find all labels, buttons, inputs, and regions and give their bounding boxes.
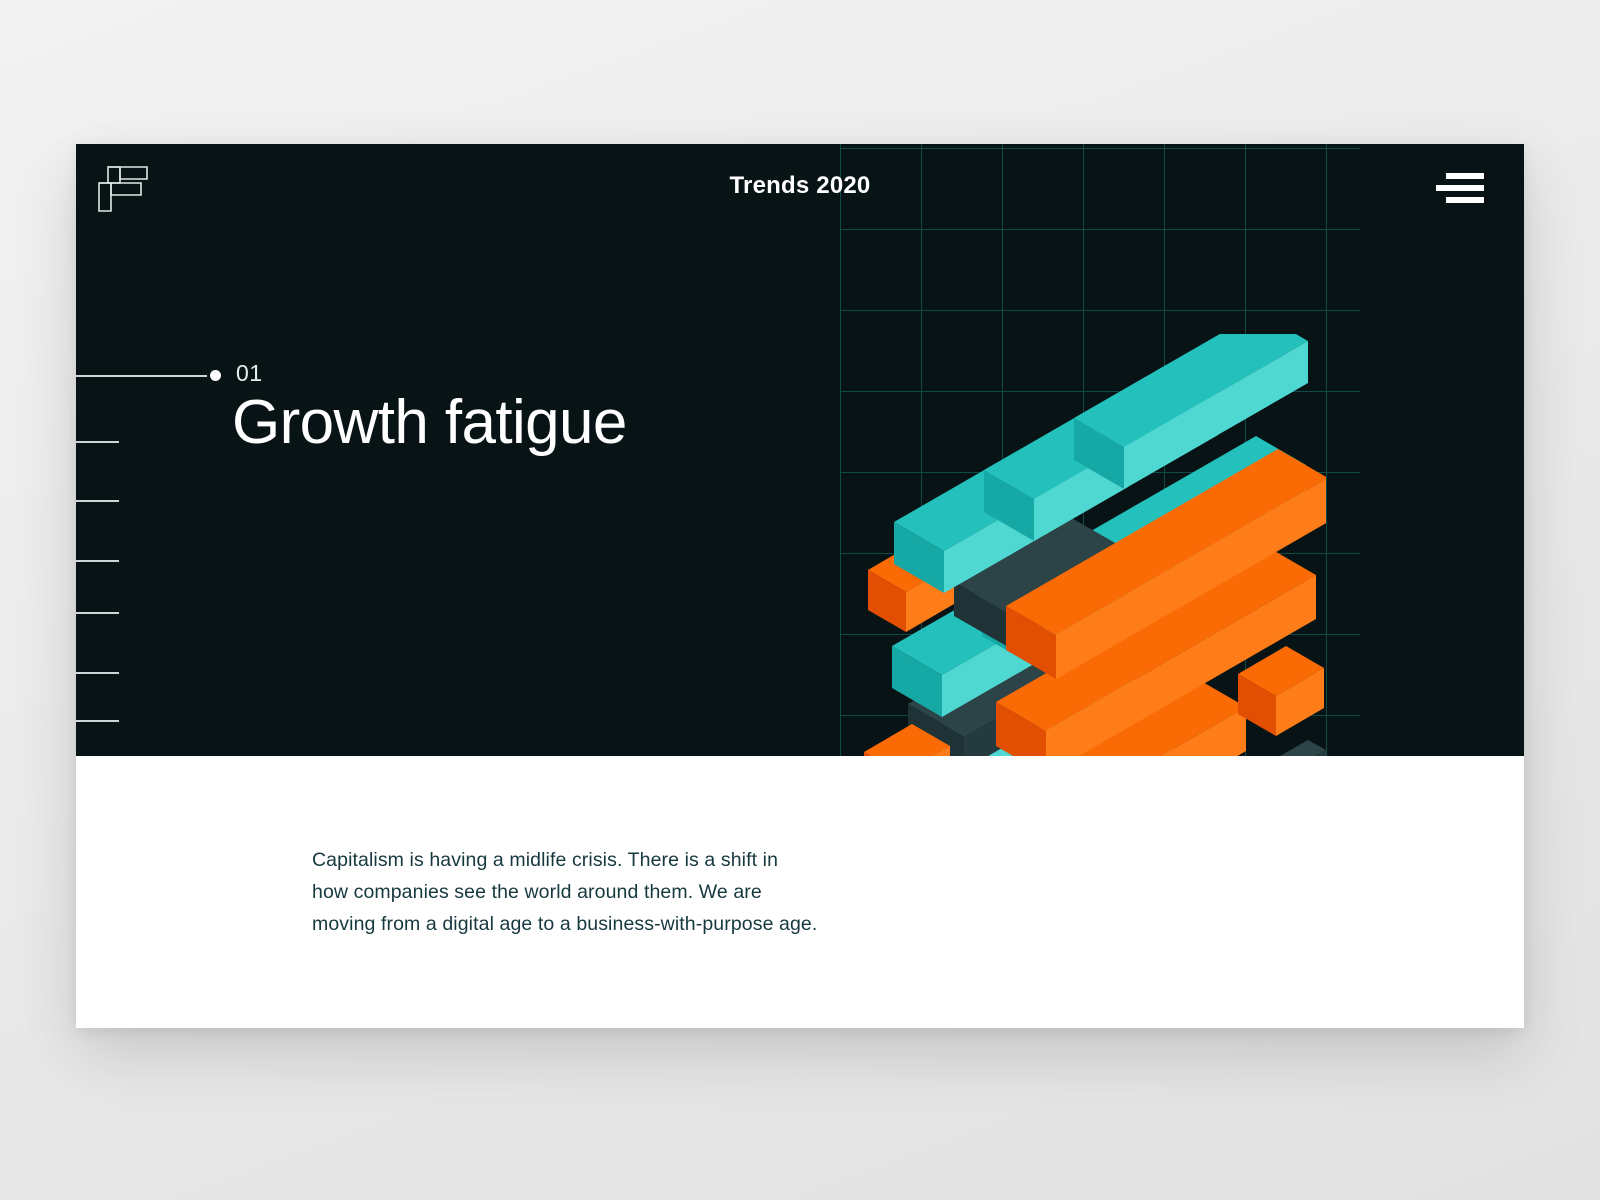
ruler-tick [76, 441, 119, 443]
ruler-tick [76, 672, 119, 674]
menu-bar-bottom [1446, 197, 1484, 203]
page-title: Trends 2020 [76, 172, 1524, 200]
ruler-marker-dot [210, 370, 221, 381]
menu-bar-middle [1436, 185, 1484, 191]
slide-number: 01 [236, 360, 263, 387]
ruler-tick [76, 560, 119, 562]
paragraph-line: moving from a digital age to a business-… [312, 908, 912, 940]
hamburger-menu-icon[interactable] [1436, 170, 1484, 206]
ruler-tick [76, 720, 119, 722]
menu-bar-top [1446, 173, 1484, 179]
slide-card: Trends 2020 01 Growth fatigue [76, 144, 1524, 1028]
ruler-tick [76, 612, 119, 614]
hero-section: Trends 2020 01 Growth fatigue [76, 144, 1524, 756]
paragraph-line: Capitalism is having a midlife crisis. T… [312, 844, 912, 876]
body-paragraph: Capitalism is having a midlife crisis. T… [312, 844, 912, 940]
paragraph-line: how companies see the world around them.… [312, 876, 912, 908]
slide-headline: Growth fatigue [232, 387, 627, 458]
page-background: Trends 2020 01 Growth fatigue [0, 0, 1600, 1200]
ruler-tick [76, 500, 119, 502]
background-grid [840, 144, 1360, 756]
ruler-tick-lead [76, 375, 207, 377]
